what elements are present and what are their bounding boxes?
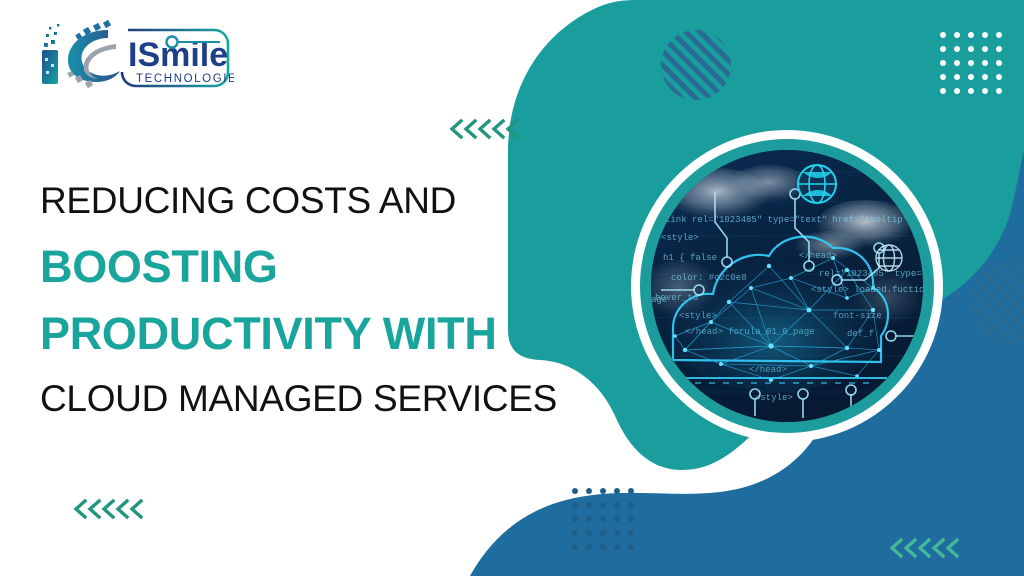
logo-swoosh <box>67 20 120 88</box>
headline-line-1: REDUCING COSTS AND <box>40 182 620 219</box>
logo-pixel-column <box>42 24 60 84</box>
chevron-left-icon <box>888 537 964 559</box>
svg-text:age: age <box>651 295 667 305</box>
headline-line-4: CLOUD MANAGED SERVICES <box>40 380 620 417</box>
striped-circle-top <box>661 30 731 100</box>
svg-text:<style>: <style> <box>661 233 699 243</box>
chevron-group-bottom <box>888 537 964 559</box>
cloud-network-photo-frame: link rel="1023485" type="text" href="too… <box>631 130 943 442</box>
chevron-left-icon <box>448 118 524 140</box>
dot-grid-bottom <box>572 488 630 546</box>
svg-text:link rel="1023485" type="text": link rel="1023485" type="text" href="too… <box>665 215 908 225</box>
logo-tagline: TECHNOLOGIES <box>136 73 234 85</box>
chevron-left-icon <box>72 498 148 520</box>
cloud-network-photo: link rel="1023485" type="text" href="too… <box>651 150 923 422</box>
svg-text:</head>: </head> <box>799 251 837 261</box>
globe-icon-large <box>798 165 836 203</box>
chevron-group-top <box>448 118 524 140</box>
svg-text:h1 { false: h1 { false <box>663 253 717 263</box>
marketing-banner: ISmile TECHNOLOGIES REDUCING COSTS AND B… <box>0 0 1024 576</box>
ismile-technologies-logo[interactable]: ISmile TECHNOLOGIES <box>24 14 234 96</box>
headline-block: REDUCING COSTS AND BOOSTING PRODUCTIVITY… <box>40 182 620 417</box>
dot-grid-top-right <box>940 32 1002 94</box>
headline-line-2: BOOSTING <box>40 244 620 289</box>
chevron-group-left <box>72 498 148 520</box>
headline-line-3: PRODUCTIVITY WITH <box>40 311 620 356</box>
